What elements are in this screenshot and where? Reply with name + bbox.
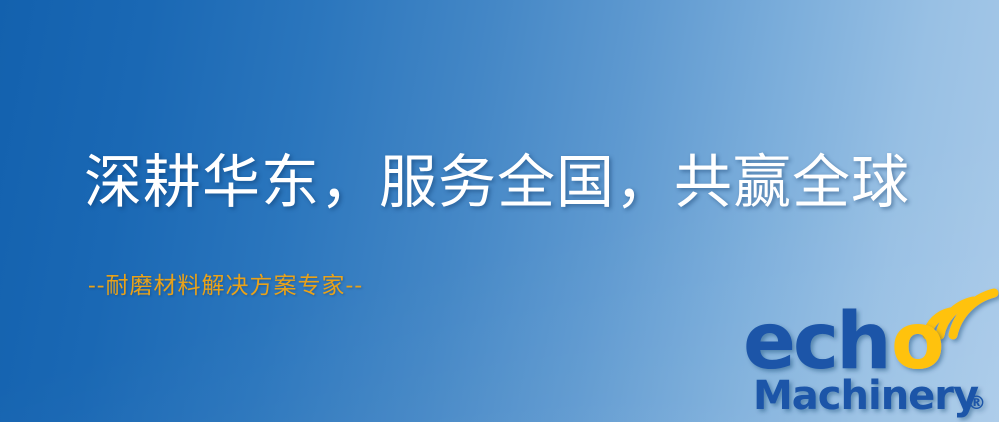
page-title: 深耕华东，服务全国，共赢全球 <box>84 152 910 213</box>
logo-tagline: Machinery <box>753 373 979 419</box>
registered-trademark-icon: ® <box>967 392 986 414</box>
page-subtitle: --耐磨材料解决方案专家-- <box>88 266 363 300</box>
echo-machinery-logo[interactable]: ech o Machinery ® <box>745 292 999 422</box>
hero-banner: 深耕华东，服务全国，共赢全球 --耐磨材料解决方案专家-- ech o <box>0 0 999 422</box>
